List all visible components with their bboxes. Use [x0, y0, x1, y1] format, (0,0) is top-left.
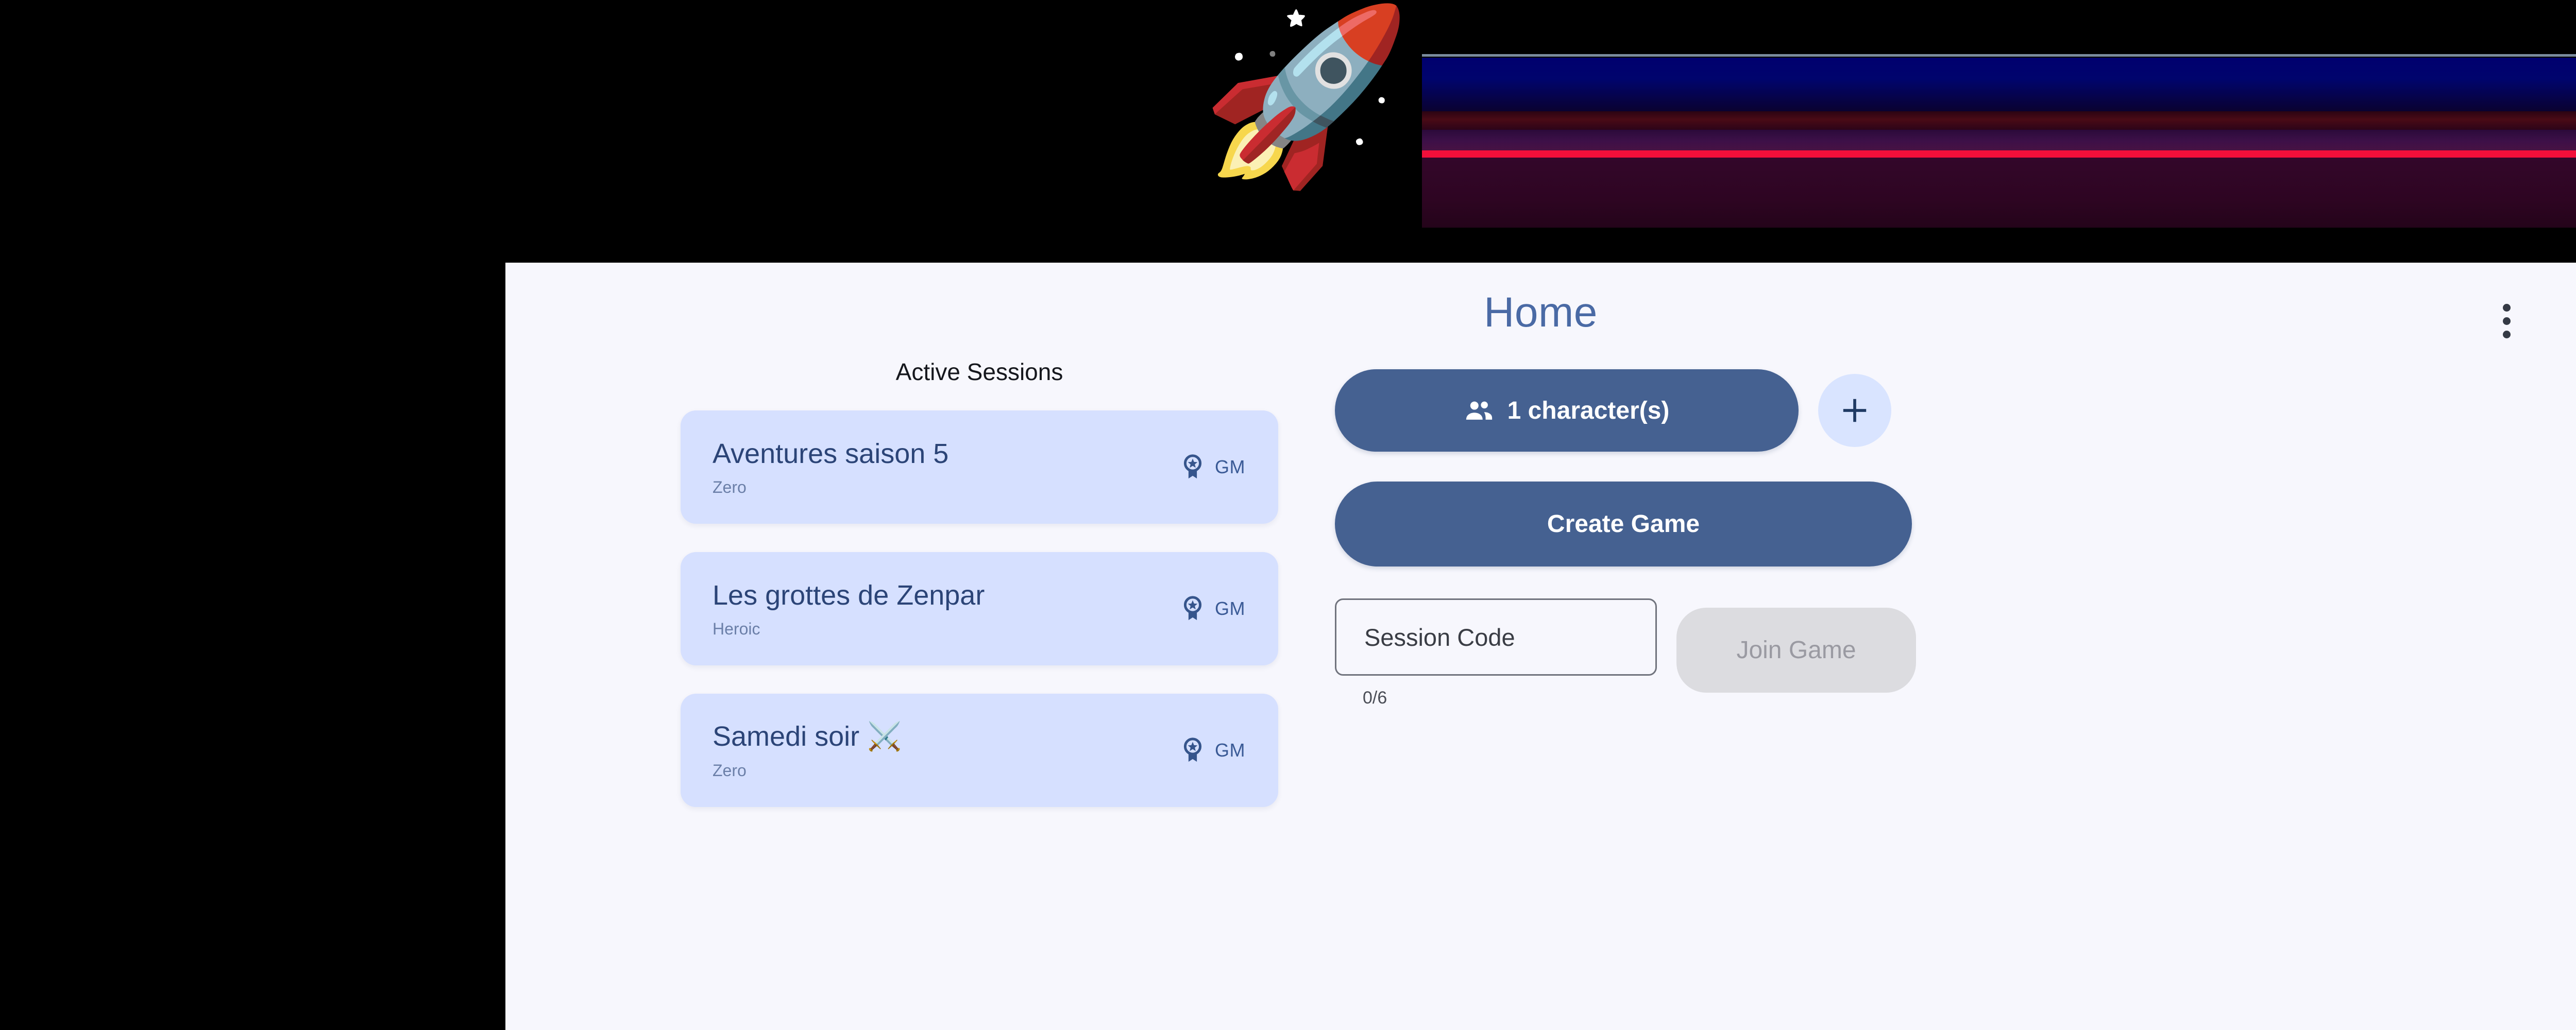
- session-name: Aventures saison 5: [713, 438, 948, 470]
- role-label: GM: [1215, 456, 1245, 478]
- page-title: Home: [505, 288, 2576, 337]
- character-count-label: 1 character(s): [1507, 397, 1670, 425]
- character-count-button[interactable]: 1 character(s): [1335, 369, 1799, 452]
- group-icon: [1464, 399, 1494, 422]
- menu-dot: [2503, 331, 2511, 338]
- session-card[interactable]: Samedi soir ⚔️ Zero GM: [681, 694, 1278, 807]
- plus-icon: [1839, 394, 1871, 426]
- actions-panel: 1 character(s) Create Game 0/6: [1335, 369, 1979, 708]
- role-label: GM: [1215, 740, 1245, 761]
- streak-artifact-maroon-lower: [1422, 158, 2576, 228]
- session-name: Samedi soir ⚔️: [713, 720, 902, 753]
- streak-artifact-purple: [1422, 130, 2576, 152]
- add-character-button[interactable]: [1818, 374, 1891, 447]
- rocket-icon: 🚀: [1200, 10, 1412, 180]
- military-tech-icon: [1180, 452, 1206, 483]
- session-code-counter: 0/6: [1363, 688, 1657, 708]
- character-row: 1 character(s): [1335, 369, 1979, 452]
- app-header: Home: [505, 263, 2576, 358]
- streak-artifact-navy: [1422, 58, 2576, 111]
- status-badge: GM: [1180, 735, 1245, 766]
- menu-dot: [2503, 317, 2511, 325]
- more-vertical-icon[interactable]: [2491, 300, 2522, 341]
- session-card[interactable]: Aventures saison 5 Zero GM: [681, 410, 1278, 524]
- session-subtitle: Heroic: [713, 620, 985, 639]
- menu-dot: [2503, 304, 2511, 312]
- session-subtitle: Zero: [713, 478, 948, 497]
- sessions-panel: Active Sessions Aventures saison 5 Zero …: [681, 358, 1278, 835]
- streak-artifact-maroon-upper: [1422, 111, 2576, 130]
- create-game-button[interactable]: Create Game: [1335, 482, 1912, 566]
- join-game-row: 0/6 Join Game: [1335, 598, 1979, 708]
- military-tech-icon: [1180, 735, 1206, 766]
- app-window: Home Active Sessions Aventures saison 5 …: [505, 263, 2576, 1030]
- status-badge: GM: [1180, 593, 1245, 624]
- streak-artifact-red-line: [1422, 150, 2576, 158]
- session-subtitle: Zero: [713, 761, 902, 780]
- session-name: Les grottes de Zenpar: [713, 579, 985, 611]
- sessions-heading: Active Sessions: [681, 358, 1278, 386]
- session-card[interactable]: Les grottes de Zenpar Heroic GM: [681, 552, 1278, 665]
- join-game-button[interactable]: Join Game: [1676, 608, 1916, 693]
- session-code-input[interactable]: [1335, 598, 1657, 676]
- session-card-text: Les grottes de Zenpar Heroic: [713, 579, 985, 639]
- status-badge: GM: [1180, 452, 1245, 483]
- streak-artifact-hairline: [1422, 54, 2576, 57]
- session-code-field: 0/6: [1335, 598, 1657, 708]
- military-tech-icon: [1180, 593, 1206, 624]
- session-card-text: Samedi soir ⚔️ Zero: [713, 720, 902, 780]
- session-card-text: Aventures saison 5 Zero: [713, 438, 948, 497]
- role-label: GM: [1215, 598, 1245, 620]
